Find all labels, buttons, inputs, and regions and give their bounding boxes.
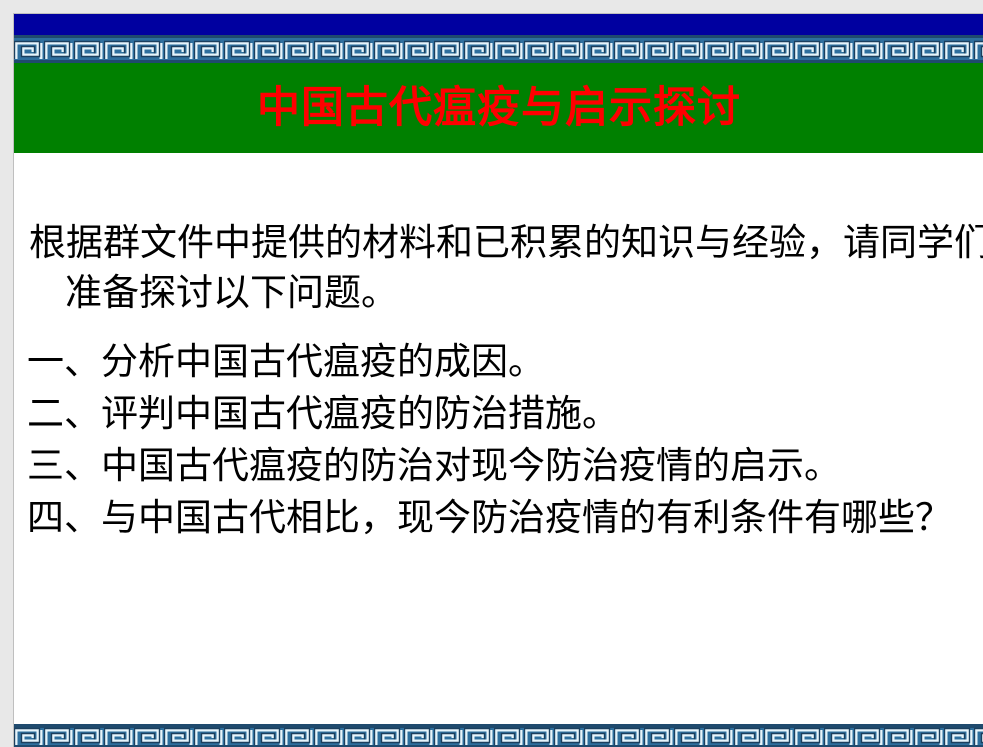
top-blue-bar	[14, 14, 983, 35]
intro-paragraph: 根据群文件中提供的材料和已积累的知识与经验，请同学们准备探讨以下问题。	[29, 218, 983, 318]
question-item-4: 四、与中国古代相比，现今防治疫情的有利条件有哪些？	[27, 492, 977, 544]
question-item-1: 一、分析中国古代瘟疫的成因。	[27, 336, 977, 388]
question-item-3: 三、中国古代瘟疫的防治对现今防治疫情的启示。	[27, 440, 977, 492]
slide-body: 根据群文件中提供的材料和已积累的知识与经验，请同学们准备探讨以下问题。 一、分析…	[14, 153, 983, 713]
question-item-2: 二、评判中国古代瘟疫的防治措施。	[27, 388, 977, 440]
greek-key-pattern-top-icon	[14, 35, 983, 63]
slide-title: 中国古代瘟疫与启示探讨	[14, 63, 983, 153]
greek-key-pattern-bottom-icon	[14, 713, 983, 747]
question-list: 一、分析中国古代瘟疫的成因。 二、评判中国古代瘟疫的防治措施。 三、中国古代瘟疫…	[27, 336, 977, 544]
greek-key-border-bottom	[14, 713, 983, 747]
slide-canvas: 中国古代瘟疫与启示探讨 根据群文件中提供的材料和已积累的知识与经验，请同学们准备…	[13, 13, 983, 747]
greek-key-border-top	[14, 35, 983, 63]
title-band: 中国古代瘟疫与启示探讨	[14, 63, 983, 153]
